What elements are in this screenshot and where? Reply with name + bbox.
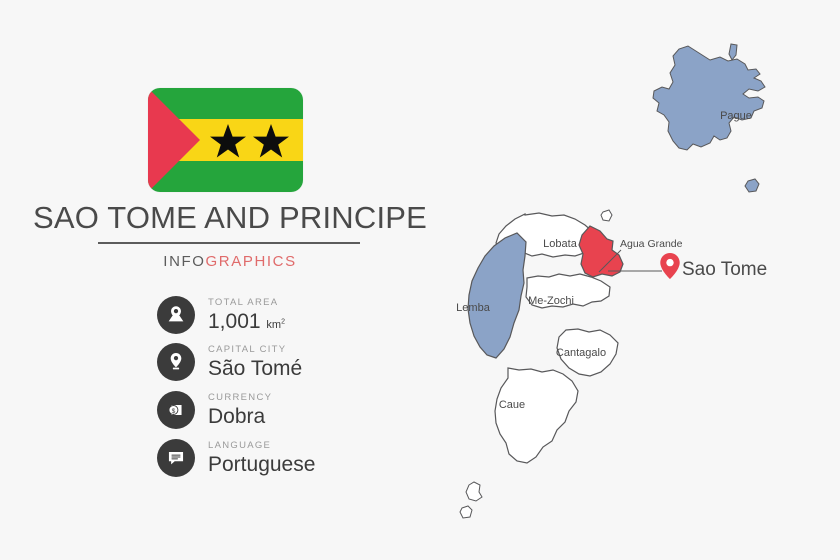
- district-lobata: [496, 213, 593, 257]
- callout-label-agua-grande: Agua Grande: [620, 238, 683, 250]
- pin-body: [660, 253, 679, 279]
- stat-label: TOTAL AREA: [208, 298, 285, 308]
- map-principe: Pague: [653, 44, 765, 192]
- islet-north-east: [601, 210, 612, 221]
- stat-unit: km2: [266, 319, 285, 331]
- pin-hole: [666, 259, 673, 266]
- capital-pin-icon: [157, 343, 195, 381]
- flag-svg: [148, 88, 303, 192]
- capital-marker-label: Sao Tome: [682, 259, 767, 280]
- stat-currency: $ CURRENCY Dobra: [157, 391, 272, 429]
- district-lemba: [468, 233, 526, 358]
- district-agua-grande: [579, 226, 623, 277]
- page-title: SAO TOME AND PRINCIPE: [0, 200, 460, 236]
- language-speech-bubble-icon: [157, 439, 195, 477]
- currency-money-icon: $: [157, 391, 195, 429]
- infographic-canvas: SAO TOME AND PRINCIPE INFOGRAPHICS TOTAL…: [0, 0, 840, 560]
- islet-south-small: [460, 506, 472, 518]
- capital-marker-pin[interactable]: [660, 253, 679, 279]
- area-pin-icon: [157, 296, 195, 334]
- stat-total-area: TOTAL AREA 1,001 km2: [157, 296, 285, 334]
- callout-leader-line: [599, 250, 621, 272]
- stat-value: 1,001 km2: [208, 311, 285, 332]
- maps-area: Pague: [0, 0, 840, 560]
- country-flag: [148, 88, 303, 192]
- stat-capital-city: CAPITAL CITY São Tomé: [157, 343, 302, 381]
- district-label-pague: Pague: [720, 110, 752, 122]
- stat-unit-text: km: [266, 319, 281, 331]
- stat-language: LANGUAGE Portuguese: [157, 439, 315, 477]
- principe-islet-top: [729, 44, 737, 60]
- subtitle-graphics: GRAPHICS: [206, 253, 297, 270]
- subtitle: INFOGRAPHICS: [0, 253, 460, 270]
- principe-islet-bottom: [745, 179, 759, 192]
- map-sao-tome: Lobata Lemba Me-Zochi Cantagalo Caue Agu…: [456, 210, 767, 518]
- principe-island-pague: [653, 46, 765, 150]
- stat-text: LANGUAGE Portuguese: [208, 441, 315, 476]
- stat-label: CURRENCY: [208, 393, 272, 403]
- stat-unit-exponent: 2: [281, 319, 285, 326]
- stat-value-number: 1,001: [208, 310, 261, 333]
- stat-value: São Tomé: [208, 358, 302, 379]
- district-me-zochi: [526, 274, 610, 308]
- islet-south-tip: [466, 482, 482, 501]
- svg-text:$: $: [172, 408, 176, 415]
- district-label-me-zochi: Me-Zochi: [528, 295, 574, 307]
- district-caue: [495, 368, 578, 463]
- district-label-lobata: Lobata: [543, 238, 578, 250]
- stat-text: CAPITAL CITY São Tomé: [208, 345, 302, 380]
- district-label-lemba: Lemba: [456, 302, 491, 314]
- stat-label: LANGUAGE: [208, 441, 315, 451]
- stat-label: CAPITAL CITY: [208, 345, 302, 355]
- stat-text: TOTAL AREA 1,001 km2: [208, 298, 285, 333]
- district-cantagalo: [557, 329, 618, 376]
- stat-value: Portuguese: [208, 454, 315, 475]
- maps-svg: Pague: [0, 0, 840, 560]
- title-divider: [98, 242, 360, 244]
- stat-text: CURRENCY Dobra: [208, 393, 272, 428]
- subtitle-info: INFO: [163, 253, 205, 270]
- district-label-cantagalo: Cantagalo: [556, 347, 606, 359]
- district-label-caue: Caue: [499, 399, 525, 411]
- stat-value: Dobra: [208, 406, 272, 427]
